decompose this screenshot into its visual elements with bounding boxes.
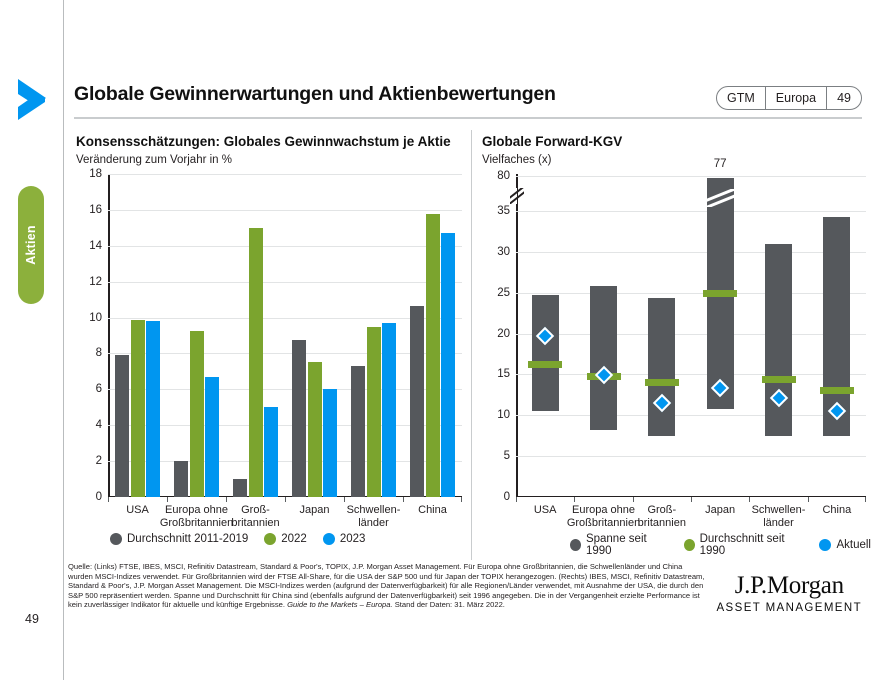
x-axis-tick: [461, 497, 462, 502]
y-axis-tick-label: 4: [96, 419, 102, 431]
source-text-italic: Guide to the Markets – Europa.: [287, 600, 393, 609]
x-axis-tick: [865, 497, 866, 502]
x-axis-tick: [108, 497, 109, 502]
gridline: [516, 293, 866, 294]
x-axis-tick: [344, 497, 345, 502]
average-marker: [820, 387, 854, 394]
bar-0: [115, 355, 129, 497]
gridline: [108, 461, 462, 462]
y-axis-tick-label: 16: [89, 204, 102, 216]
bar-1: [249, 228, 263, 497]
x-axis-tick: [285, 497, 286, 502]
left-chart-legend: Durchschnitt 2011-201920222023: [110, 533, 374, 545]
y-axis-tick-label: 14: [89, 240, 102, 252]
y-axis-tick-label: 0: [96, 491, 102, 503]
slide-page: Aktien 49 Globale Gewinnerwartungen und …: [0, 0, 880, 680]
right-chart-title: Globale Forward-KGV: [482, 134, 622, 149]
bar-2: [264, 407, 278, 497]
bar-2: [323, 389, 337, 497]
legend-item: 2023: [323, 533, 366, 545]
gridline: [108, 389, 462, 390]
bar-2: [205, 377, 219, 497]
source-text-2: Stand der Daten: 31. März 2022.: [395, 600, 505, 609]
gridline: [516, 252, 866, 253]
gridline: [108, 425, 462, 426]
legend-item: Spanne seit 1990: [570, 533, 668, 557]
bar-0: [174, 461, 188, 497]
gridline: [108, 174, 462, 175]
gridline: [516, 415, 866, 416]
bar-1: [367, 327, 381, 497]
gridline: [516, 176, 866, 177]
legend-item: 2022: [264, 533, 307, 545]
legend-item: Durchschnitt seit 1990: [684, 533, 804, 557]
bar-2: [441, 233, 455, 497]
gridline: [516, 456, 866, 457]
x-axis-tick: [226, 497, 227, 502]
y-axis-tick-label: 35: [497, 205, 510, 217]
legend-label: Spanne seit 1990: [586, 533, 668, 557]
legend-swatch: [819, 539, 831, 551]
legend-item: Durchschnitt 2011-2019: [110, 533, 248, 545]
y-axis-tick-label: 12: [89, 276, 102, 288]
y-axis-tick-label: 0: [504, 491, 510, 503]
badge-region: Europa: [766, 87, 827, 109]
legend-label: 2022: [281, 533, 307, 545]
badge-gtm: GTM: [717, 87, 766, 109]
bar-1: [131, 320, 145, 497]
bar-1: [308, 362, 322, 497]
range-bar: [532, 295, 559, 411]
x-axis-label: China: [388, 504, 478, 517]
page-number: 49: [0, 612, 64, 626]
logo-secondary: ASSET MANAGEMENT: [716, 602, 862, 614]
y-axis-tick-label: 20: [497, 328, 510, 340]
gridline: [108, 282, 462, 283]
left-y-axis: [108, 174, 110, 497]
bar-2: [146, 321, 160, 497]
logo-primary: J.P.Morgan: [716, 572, 862, 600]
x-axis-tick: [749, 497, 750, 502]
gridline: [516, 334, 866, 335]
left-chart-plot: 024681012141618USAEuropa ohne Großbritan…: [108, 174, 462, 497]
x-axis-tick: [633, 497, 634, 502]
average-marker: [762, 376, 796, 383]
gridline: [108, 318, 462, 319]
jpmorgan-logo: J.P.Morgan ASSET MANAGEMENT: [716, 572, 862, 614]
y-axis-tick-label: 18: [89, 168, 102, 180]
gridline: [516, 374, 866, 375]
left-chart-title: Konsensschätzungen: Globales Gewinnwachs…: [76, 134, 451, 149]
gridline: [516, 211, 866, 212]
average-marker: [703, 290, 737, 297]
left-rail: Aktien 49: [0, 0, 64, 680]
bar-value-label: 77: [714, 158, 727, 170]
legend-swatch: [110, 533, 122, 545]
left-chart-subtitle: Veränderung zum Vorjahr in %: [76, 154, 232, 166]
y-axis-tick-label: 8: [96, 347, 102, 359]
badge-page: 49: [827, 87, 861, 109]
x-axis-tick: [574, 497, 575, 502]
legend-swatch: [570, 539, 581, 551]
right-chart-plot: 0510152025303580USAEuropa ohne Großbrita…: [516, 174, 866, 497]
y-axis-tick-label: 10: [497, 409, 510, 421]
x-axis-label: China: [792, 504, 880, 517]
legend-label: 2023: [340, 533, 366, 545]
y-axis-tick-label: 25: [497, 287, 510, 299]
x-axis-tick: [516, 497, 517, 502]
right-chart-panel: Globale Forward-KGV Vielfaches (x) 05101…: [474, 130, 874, 560]
bar-0: [351, 366, 365, 497]
legend-swatch: [323, 533, 335, 545]
x-axis-tick: [691, 497, 692, 502]
y-axis-tick-label: 80: [497, 170, 510, 182]
sidebar-tab-label: Aktien: [24, 225, 38, 264]
bar-0: [410, 306, 424, 497]
gtm-badge: GTM Europa 49: [716, 86, 862, 110]
bar-2: [382, 323, 396, 497]
legend-label: Durchschnitt 2011-2019: [127, 533, 248, 545]
y-axis-tick-label: 2: [96, 455, 102, 467]
bar-0: [233, 479, 247, 497]
y-axis-tick-label: 6: [96, 383, 102, 395]
bar-break-icon: [706, 189, 735, 207]
header-divider: [74, 117, 862, 119]
y-axis-tick-label: 5: [504, 450, 510, 462]
legend-label: Durchschnitt seit 1990: [700, 533, 804, 557]
bar-1: [426, 214, 440, 497]
y-axis-tick-label: 10: [89, 312, 102, 324]
page-title: Globale Gewinnerwartungen und Aktienbewe…: [74, 83, 556, 106]
legend-swatch: [684, 539, 695, 551]
x-axis-tick: [167, 497, 168, 502]
chevron-right-icon: [12, 76, 52, 120]
legend-label: Aktuell: [836, 539, 871, 551]
x-axis-tick: [808, 497, 809, 502]
average-marker: [528, 361, 562, 368]
range-bar: [648, 298, 675, 436]
y-axis-tick-label: 30: [497, 246, 510, 258]
bar-0: [292, 340, 306, 497]
x-axis-tick: [403, 497, 404, 502]
average-marker: [645, 379, 679, 386]
source-note: Quelle: (Links) FTSE, IBES, MSCI, Refini…: [68, 562, 708, 610]
legend-swatch: [264, 533, 276, 545]
right-chart-legend: Spanne seit 1990Durchschnitt seit 1990Ak…: [570, 533, 880, 557]
y-axis-tick-label: 15: [497, 368, 510, 380]
left-chart-panel: Konsensschätzungen: Globales Gewinnwachs…: [68, 130, 472, 560]
gridline: [108, 210, 462, 211]
range-bar: [590, 286, 617, 430]
right-chart-subtitle: Vielfaches (x): [482, 154, 551, 166]
bar-1: [190, 331, 204, 497]
sidebar-tab-aktien[interactable]: Aktien: [18, 186, 44, 304]
gridline: [108, 353, 462, 354]
right-y-axis: [516, 174, 518, 497]
gridline: [108, 246, 462, 247]
y-axis-break-icon: [510, 188, 524, 204]
legend-item: Aktuell: [819, 539, 871, 551]
